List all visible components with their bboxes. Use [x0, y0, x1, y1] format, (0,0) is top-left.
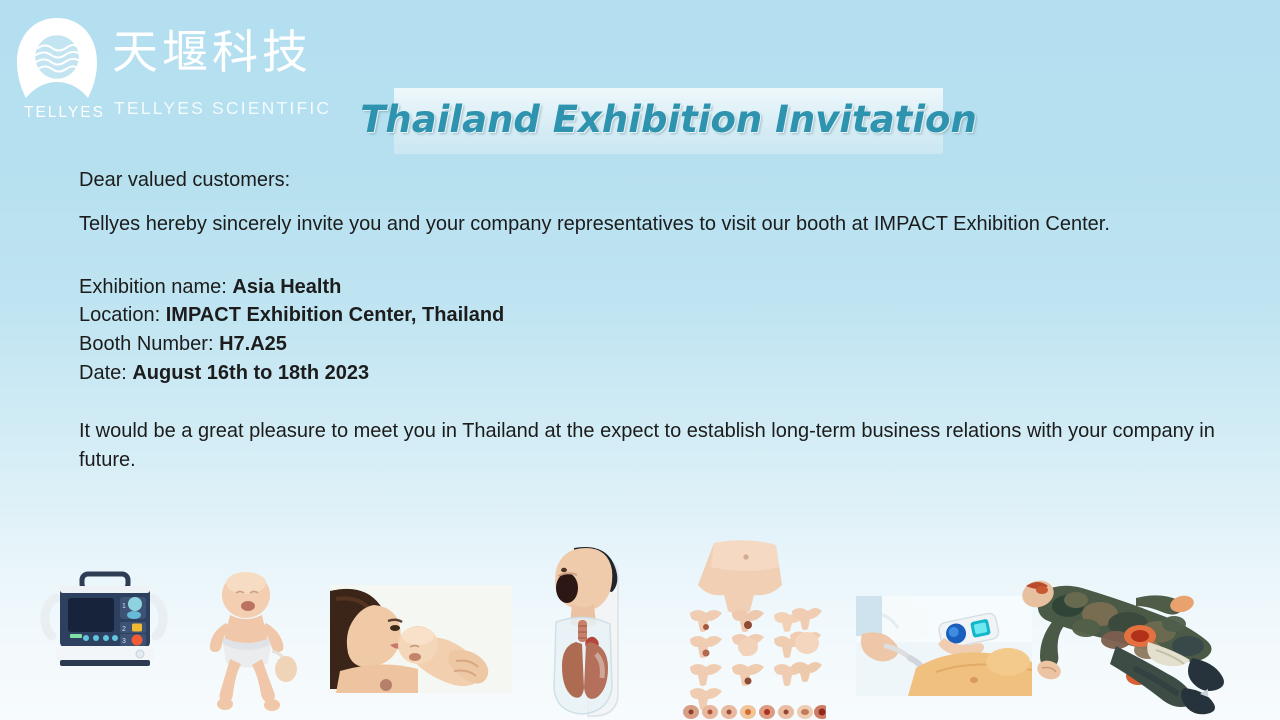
detail-row-booth-number: Booth Number: H7.A25 — [79, 330, 1229, 359]
detail-row-exhibition-name: Exhibition name: Asia Health — [79, 273, 1229, 302]
svg-text:1: 1 — [122, 603, 126, 610]
product-image-military-trauma-casualty-manikin — [1016, 570, 1238, 716]
svg-text:2: 2 — [122, 626, 126, 633]
invitation-sentence: Tellyes hereby sincerely invite you and … — [79, 210, 1229, 239]
detail-label-date: Date: — [79, 362, 132, 384]
detail-value-location: IMPACT Exhibition Center, Thailand — [166, 304, 505, 326]
event-details-block: Exhibition name: Asia Health Location: I… — [79, 273, 1229, 388]
product-image-defibrillator-monitor: 1 2 3 — [34, 570, 174, 670]
invitation-body: Dear valued customers: Tellyes hereby si… — [79, 166, 1229, 474]
product-image-airway-lung-torso-manikin — [526, 542, 636, 720]
page-title: Thailand Exhibition Invitation — [360, 100, 977, 143]
product-image-clinical-training-scene — [856, 596, 1032, 696]
title-banner: Thailand Exhibition Invitation — [394, 88, 943, 154]
product-image-gynecological-uterus-model-set — [666, 535, 826, 720]
product-image-childbirth-simulator — [330, 585, 512, 693]
logo-wordmark-english: TELLYES SCIENTIFIC — [114, 98, 331, 119]
product-image-strip: 1 2 3 — [0, 520, 1280, 720]
detail-label-location: Location: — [79, 304, 166, 326]
detail-value-booth-number: H7.A25 — [219, 333, 287, 355]
logo-wordmark-chinese: 天堰科技 — [112, 26, 312, 78]
detail-row-location: Location: IMPACT Exhibition Center, Thai… — [79, 301, 1229, 330]
company-logo: TELLYES 天堰科技 TELLYES SCIENTIFIC — [8, 12, 308, 122]
svg-text:3: 3 — [122, 638, 126, 645]
detail-value-exhibition-name: Asia Health — [232, 276, 341, 298]
detail-label-exhibition-name: Exhibition name: — [79, 276, 232, 298]
closing-sentence: It would be a great pleasure to meet you… — [79, 417, 1229, 475]
salutation-text: Dear valued customers: — [79, 166, 1229, 195]
tellyes-dome-logo-icon — [14, 16, 100, 116]
detail-row-date: Date: August 16th to 18th 2023 — [79, 359, 1229, 388]
detail-label-booth-number: Booth Number: — [79, 333, 219, 355]
logo-brand-sub-label: TELLYES — [24, 104, 105, 122]
product-image-infant-cpr-manikin — [196, 571, 306, 716]
invitation-slide: TELLYES 天堰科技 TELLYES SCIENTIFIC Thailand… — [0, 0, 1280, 720]
detail-value-date: August 16th to 18th 2023 — [132, 362, 369, 384]
